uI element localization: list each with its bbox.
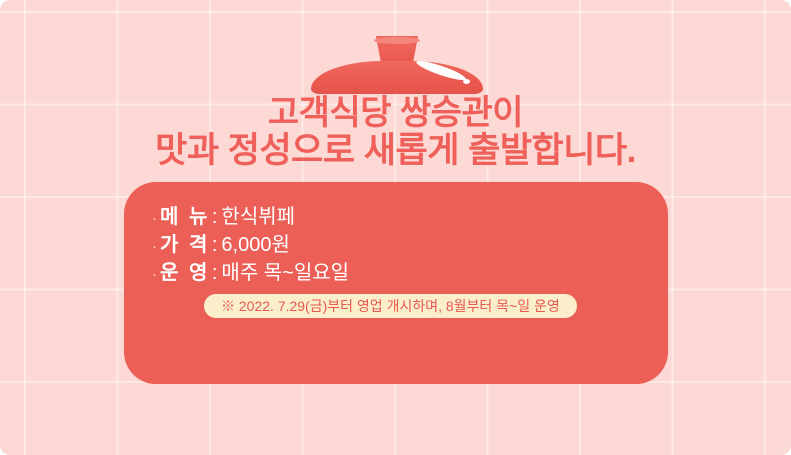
list-item: · 메 뉴 : 한식뷔페 — [152, 204, 349, 232]
info-list: · 메 뉴 : 한식뷔페 · 가 격 : 6,000원 · 운 영 : 매주 목… — [152, 204, 349, 288]
note-badge: ※ 2022. 7.29(금)부터 영업 개시하며, 8월부터 목~일 운영 — [204, 294, 577, 318]
info-separator: : — [212, 260, 218, 287]
bullet-icon: · — [152, 205, 157, 232]
bullet-icon: · — [152, 261, 157, 288]
info-value-hours: 매주 목~일요일 — [221, 260, 349, 287]
info-value-menu: 한식뷔페 — [221, 204, 295, 231]
info-label-menu: 메 뉴 — [160, 204, 210, 231]
page-title: 고객식당 쌍승관이 맛과 정성으로 새롭게 출발합니다. — [0, 94, 791, 170]
info-card: · 메 뉴 : 한식뷔페 · 가 격 : 6,000원 · 운 영 : 매주 목… — [124, 182, 668, 384]
pot-lid-knob-rim — [374, 37, 420, 44]
list-item: · 운 영 : 매주 목~일요일 — [152, 260, 349, 288]
headline-line-1: 고객식당 쌍승관이 — [0, 94, 791, 132]
info-label-price: 가 격 — [160, 232, 210, 259]
info-separator: : — [212, 232, 218, 259]
bullet-icon: · — [152, 233, 157, 260]
info-label-hours: 운 영 — [160, 260, 210, 287]
restaurant-announcement-banner: 고객식당 쌍승관이 맛과 정성으로 새롭게 출발합니다. · 메 뉴 : 한식뷔… — [0, 0, 791, 455]
pot-lid-highlight-dot — [463, 79, 470, 84]
pot-lid-icon — [311, 36, 483, 94]
headline-line-2: 맛과 정성으로 새롭게 출발합니다. — [0, 132, 791, 170]
info-value-price: 6,000원 — [221, 232, 289, 259]
list-item: · 가 격 : 6,000원 — [152, 232, 349, 260]
info-separator: : — [212, 204, 218, 231]
